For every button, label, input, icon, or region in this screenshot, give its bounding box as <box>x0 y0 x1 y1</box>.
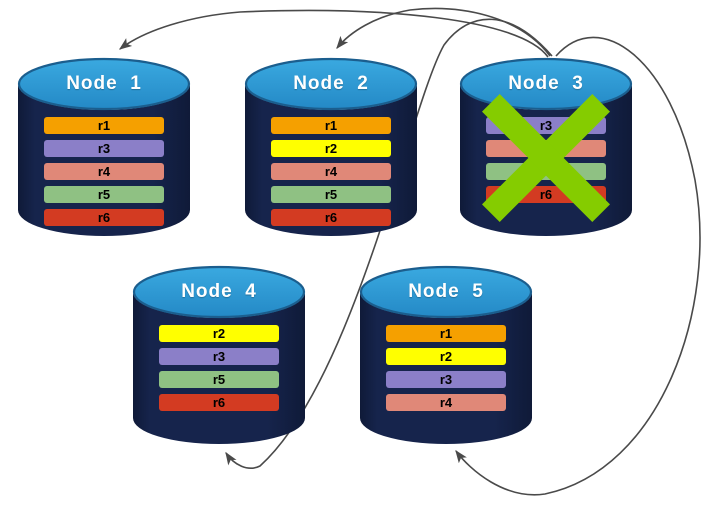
node-1[interactable]: Node 1r1r3r4r5r6 <box>18 58 190 236</box>
node-5[interactable]: Node 5r1r2r3r4 <box>360 266 532 444</box>
node-4-replica-r3[interactable]: r3 <box>159 348 279 365</box>
node-3-replica-r4[interactable]: r4 <box>486 140 606 157</box>
node-2-replica-r2[interactable]: r2 <box>271 140 391 157</box>
node-5-replica-r3[interactable]: r3 <box>386 371 506 388</box>
node-5-replica-r2[interactable]: r2 <box>386 348 506 365</box>
node-2[interactable]: Node 2r1r2r4r5r6 <box>245 58 417 236</box>
node-4-replica-r5[interactable]: r5 <box>159 371 279 388</box>
node-1-replica-r6[interactable]: r6 <box>44 209 164 226</box>
node-2-replica-r4[interactable]: r4 <box>271 163 391 180</box>
node-1-replica-r3[interactable]: r3 <box>44 140 164 157</box>
node-4-replica-r2[interactable]: r2 <box>159 325 279 342</box>
node-4-replica-r6[interactable]: r6 <box>159 394 279 411</box>
node-5-replica-r4[interactable]: r4 <box>386 394 506 411</box>
node-3-label: Node 3 <box>460 73 632 95</box>
node-4[interactable]: Node 4r2r3r5r6 <box>133 266 305 444</box>
node-1-replica-r5[interactable]: r5 <box>44 186 164 203</box>
node-2-replica-r5[interactable]: r5 <box>271 186 391 203</box>
node-2-label: Node 2 <box>245 73 417 95</box>
arrow-node3-to-node1 <box>120 11 548 57</box>
node-5-replica-r1[interactable]: r1 <box>386 325 506 342</box>
node-1-replica-r1[interactable]: r1 <box>44 117 164 134</box>
node-1-label: Node 1 <box>18 73 190 95</box>
arrow-node3-to-node2 <box>337 9 550 56</box>
node-2-replica-r1[interactable]: r1 <box>271 117 391 134</box>
node-2-replica-r6[interactable]: r6 <box>271 209 391 226</box>
node-3-replica-r5[interactable]: r5 <box>486 163 606 180</box>
node-3-replica-r3[interactable]: r3 <box>486 117 606 134</box>
node-1-replica-r4[interactable]: r4 <box>44 163 164 180</box>
node-4-label: Node 4 <box>133 281 305 303</box>
node-5-label: Node 5 <box>360 281 532 303</box>
node-3[interactable]: Node 3r3r4r5r6 <box>460 58 632 236</box>
replication-diagram: Node 1r1r3r4r5r6Node 2r1r2r4r5r6Node 3r3… <box>0 0 708 508</box>
node-3-replica-r6[interactable]: r6 <box>486 186 606 203</box>
